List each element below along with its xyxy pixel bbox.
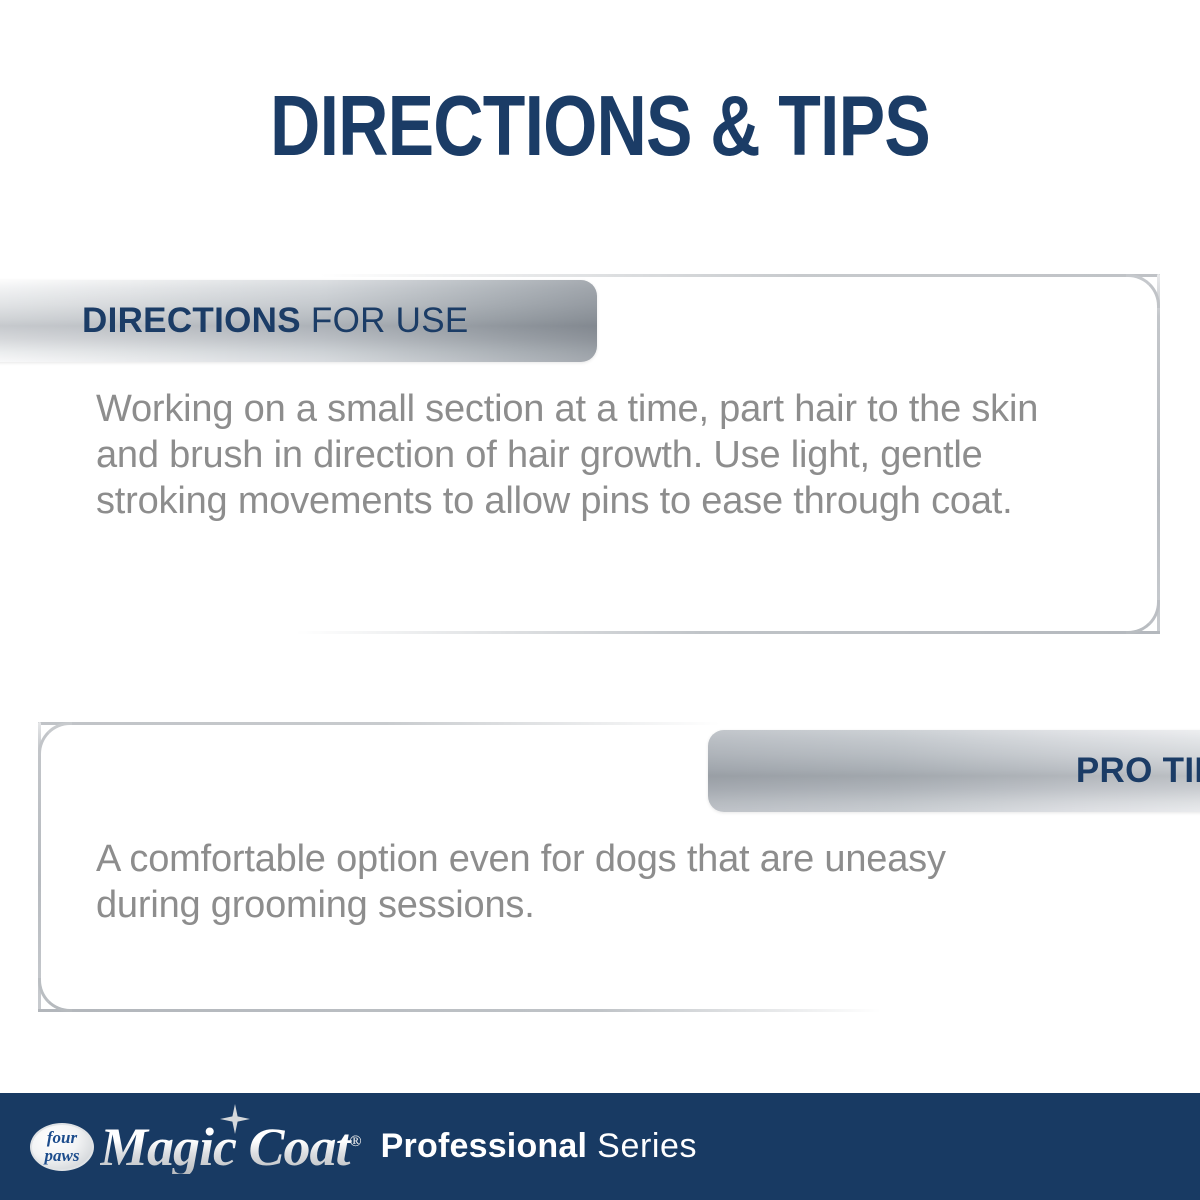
- footer-brand-band: four paws Magic Coat® Professional Serie…: [0, 1093, 1200, 1200]
- card2-corner-top-left: [38, 722, 72, 756]
- footer-logo-group: four paws Magic Coat® Professional Serie…: [30, 1120, 697, 1174]
- card2-border-bottom: [38, 1009, 1200, 1012]
- banner-pro-tip-label: PRO TIP: [1076, 751, 1200, 791]
- registered-trademark-icon: ®: [350, 1133, 361, 1150]
- magic-coat-wordmark: Magic Coat®: [100, 1120, 365, 1174]
- card-corner-bottom-right: [1126, 600, 1160, 634]
- banner-directions-light: FOR USE: [301, 301, 469, 340]
- banner-directions-strong: DIRECTIONS: [82, 301, 301, 340]
- four-paws-line2: paws: [45, 1147, 80, 1164]
- banner-pro-tip-strong: PRO TIP: [1076, 751, 1200, 790]
- card2-border-left: [38, 722, 41, 1012]
- card2-border-top: [38, 722, 1200, 725]
- magic-coat-text: Magic Coat: [100, 1117, 350, 1177]
- card-border-bottom: [0, 631, 1160, 634]
- pro-tip-body-text: A comfortable option even for dogs that …: [96, 836, 1056, 928]
- banner-directions-label: DIRECTIONS FOR USE: [82, 301, 469, 341]
- professional-series-tagline: Professional Series: [381, 1127, 698, 1166]
- card2-corner-bottom-left: [38, 978, 72, 1012]
- four-paws-logo-icon: four paws: [30, 1123, 94, 1171]
- card-border-top: [0, 274, 1160, 277]
- page-title: DIRECTIONS & TIPS: [108, 82, 1092, 171]
- card-corner-top-right: [1126, 274, 1160, 308]
- card-border-right: [1157, 274, 1160, 634]
- four-paws-line1: four: [47, 1129, 77, 1146]
- banner-directions-for-use: DIRECTIONS FOR USE: [0, 280, 597, 362]
- tagline-light: Series: [587, 1127, 697, 1165]
- tagline-bold: Professional: [381, 1127, 587, 1165]
- directions-body-text: Working on a small section at a time, pa…: [96, 386, 1106, 524]
- banner-pro-tip: PRO TIP: [708, 730, 1200, 812]
